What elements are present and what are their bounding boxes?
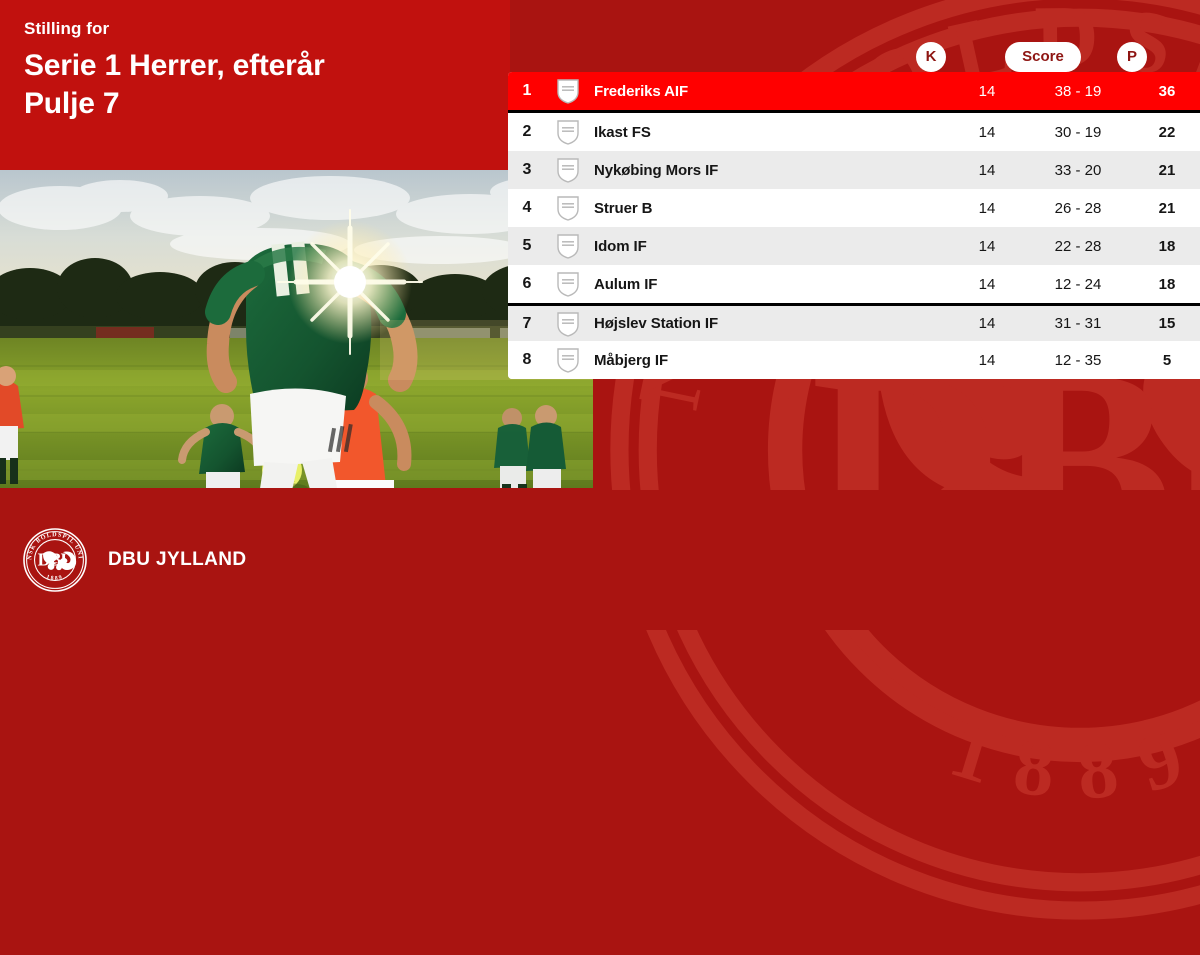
column-header-played: K	[916, 42, 946, 72]
svg-text:1889: 1889	[940, 704, 1200, 817]
row-points: 21	[1134, 200, 1200, 217]
standings-table: K Score P 1 Frederiks AIF 14 38 - 19 36 …	[508, 42, 1200, 379]
row-played: 14	[952, 124, 1022, 141]
shield-crest-icon	[546, 347, 590, 373]
row-team-name: Nykøbing Mors IF	[590, 162, 952, 179]
row-position: 2	[508, 123, 546, 141]
eyebrow-label: Stilling for	[24, 18, 486, 40]
table-row[interactable]: 1 Frederiks AIF 14 38 - 19 36	[508, 72, 1200, 113]
shield-crest-icon	[546, 119, 590, 145]
row-played: 14	[952, 352, 1022, 369]
shield-crest-icon	[546, 233, 590, 259]
title-block: Stilling for Serie 1 Herrer, efterår Pul…	[0, 0, 510, 170]
row-points: 36	[1134, 83, 1200, 100]
row-team-name: Frederiks AIF	[590, 83, 952, 100]
row-played: 14	[952, 200, 1022, 217]
table-row[interactable]: 3 Nykøbing Mors IF 14 33 - 20 21	[508, 151, 1200, 189]
row-points: 22	[1134, 124, 1200, 141]
shield-crest-icon	[546, 311, 590, 337]
row-played: 14	[952, 315, 1022, 332]
row-played: 14	[952, 238, 1022, 255]
row-position: 3	[508, 161, 546, 179]
table-row[interactable]: 6 Aulum IF 14 12 - 24 18	[508, 265, 1200, 303]
table-row[interactable]: 7 Højslev Station IF 14 31 - 31 15	[508, 303, 1200, 341]
column-header-points: P	[1117, 42, 1147, 72]
page-title-line-2: Pulje 7	[24, 85, 486, 123]
row-score: 33 - 20	[1022, 162, 1134, 179]
page-title-line-1: Serie 1 Herrer, efterår	[24, 47, 486, 85]
row-score: 12 - 35	[1022, 352, 1134, 369]
row-points: 15	[1134, 315, 1200, 332]
row-team-name: Aulum IF	[590, 276, 952, 293]
row-played: 14	[952, 276, 1022, 293]
footer-label: DBU JYLLAND	[108, 549, 246, 571]
row-position: 4	[508, 199, 546, 217]
table-row[interactable]: 4 Struer B 14 26 - 28 21	[508, 189, 1200, 227]
row-score: 26 - 28	[1022, 200, 1134, 217]
row-team-name: Idom IF	[590, 238, 952, 255]
dbu-crest-logo: DANSK BOLDSPIL UNION 1889 DBU	[22, 527, 88, 593]
svg-text:DBU: DBU	[38, 549, 74, 569]
row-position: 1	[508, 82, 546, 100]
shield-crest-icon	[546, 271, 590, 297]
shield-crest-icon	[546, 195, 590, 221]
row-points: 18	[1134, 238, 1200, 255]
row-played: 14	[952, 162, 1022, 179]
table-body: 1 Frederiks AIF 14 38 - 19 36 2 Ikast FS	[508, 72, 1200, 379]
table-column-headers: K Score P	[508, 42, 1200, 72]
row-team-name: Struer B	[590, 200, 952, 217]
page-title: Serie 1 Herrer, efterår Pulje 7	[24, 47, 486, 123]
table-row[interactable]: 8 Måbjerg IF 14 12 - 35 5	[508, 341, 1200, 379]
row-team-name: Ikast FS	[590, 124, 952, 141]
row-team-name: Højslev Station IF	[590, 315, 952, 332]
row-played: 14	[952, 83, 1022, 100]
shield-crest-icon	[546, 78, 590, 104]
row-position: 8	[508, 351, 546, 369]
shield-crest-icon	[546, 157, 590, 183]
row-points: 21	[1134, 162, 1200, 179]
row-score: 22 - 28	[1022, 238, 1134, 255]
football-match-photo	[0, 170, 593, 488]
row-score: 30 - 19	[1022, 124, 1134, 141]
footer-bar: DANSK BOLDSPIL UNION 1889 DBU DBU JYLLAN…	[0, 490, 1200, 630]
row-points: 18	[1134, 276, 1200, 293]
table-row[interactable]: 5 Idom IF 14 22 - 28 18	[508, 227, 1200, 265]
row-position: 6	[508, 275, 546, 293]
row-position: 7	[508, 315, 546, 333]
row-position: 5	[508, 237, 546, 255]
row-points: 5	[1134, 352, 1200, 369]
column-header-score: Score	[1005, 42, 1081, 72]
row-score: 38 - 19	[1022, 83, 1134, 100]
row-team-name: Måbjerg IF	[590, 352, 952, 369]
row-score: 12 - 24	[1022, 276, 1134, 293]
table-row[interactable]: 2 Ikast FS 14 30 - 19 22	[508, 113, 1200, 151]
row-score: 31 - 31	[1022, 315, 1134, 332]
